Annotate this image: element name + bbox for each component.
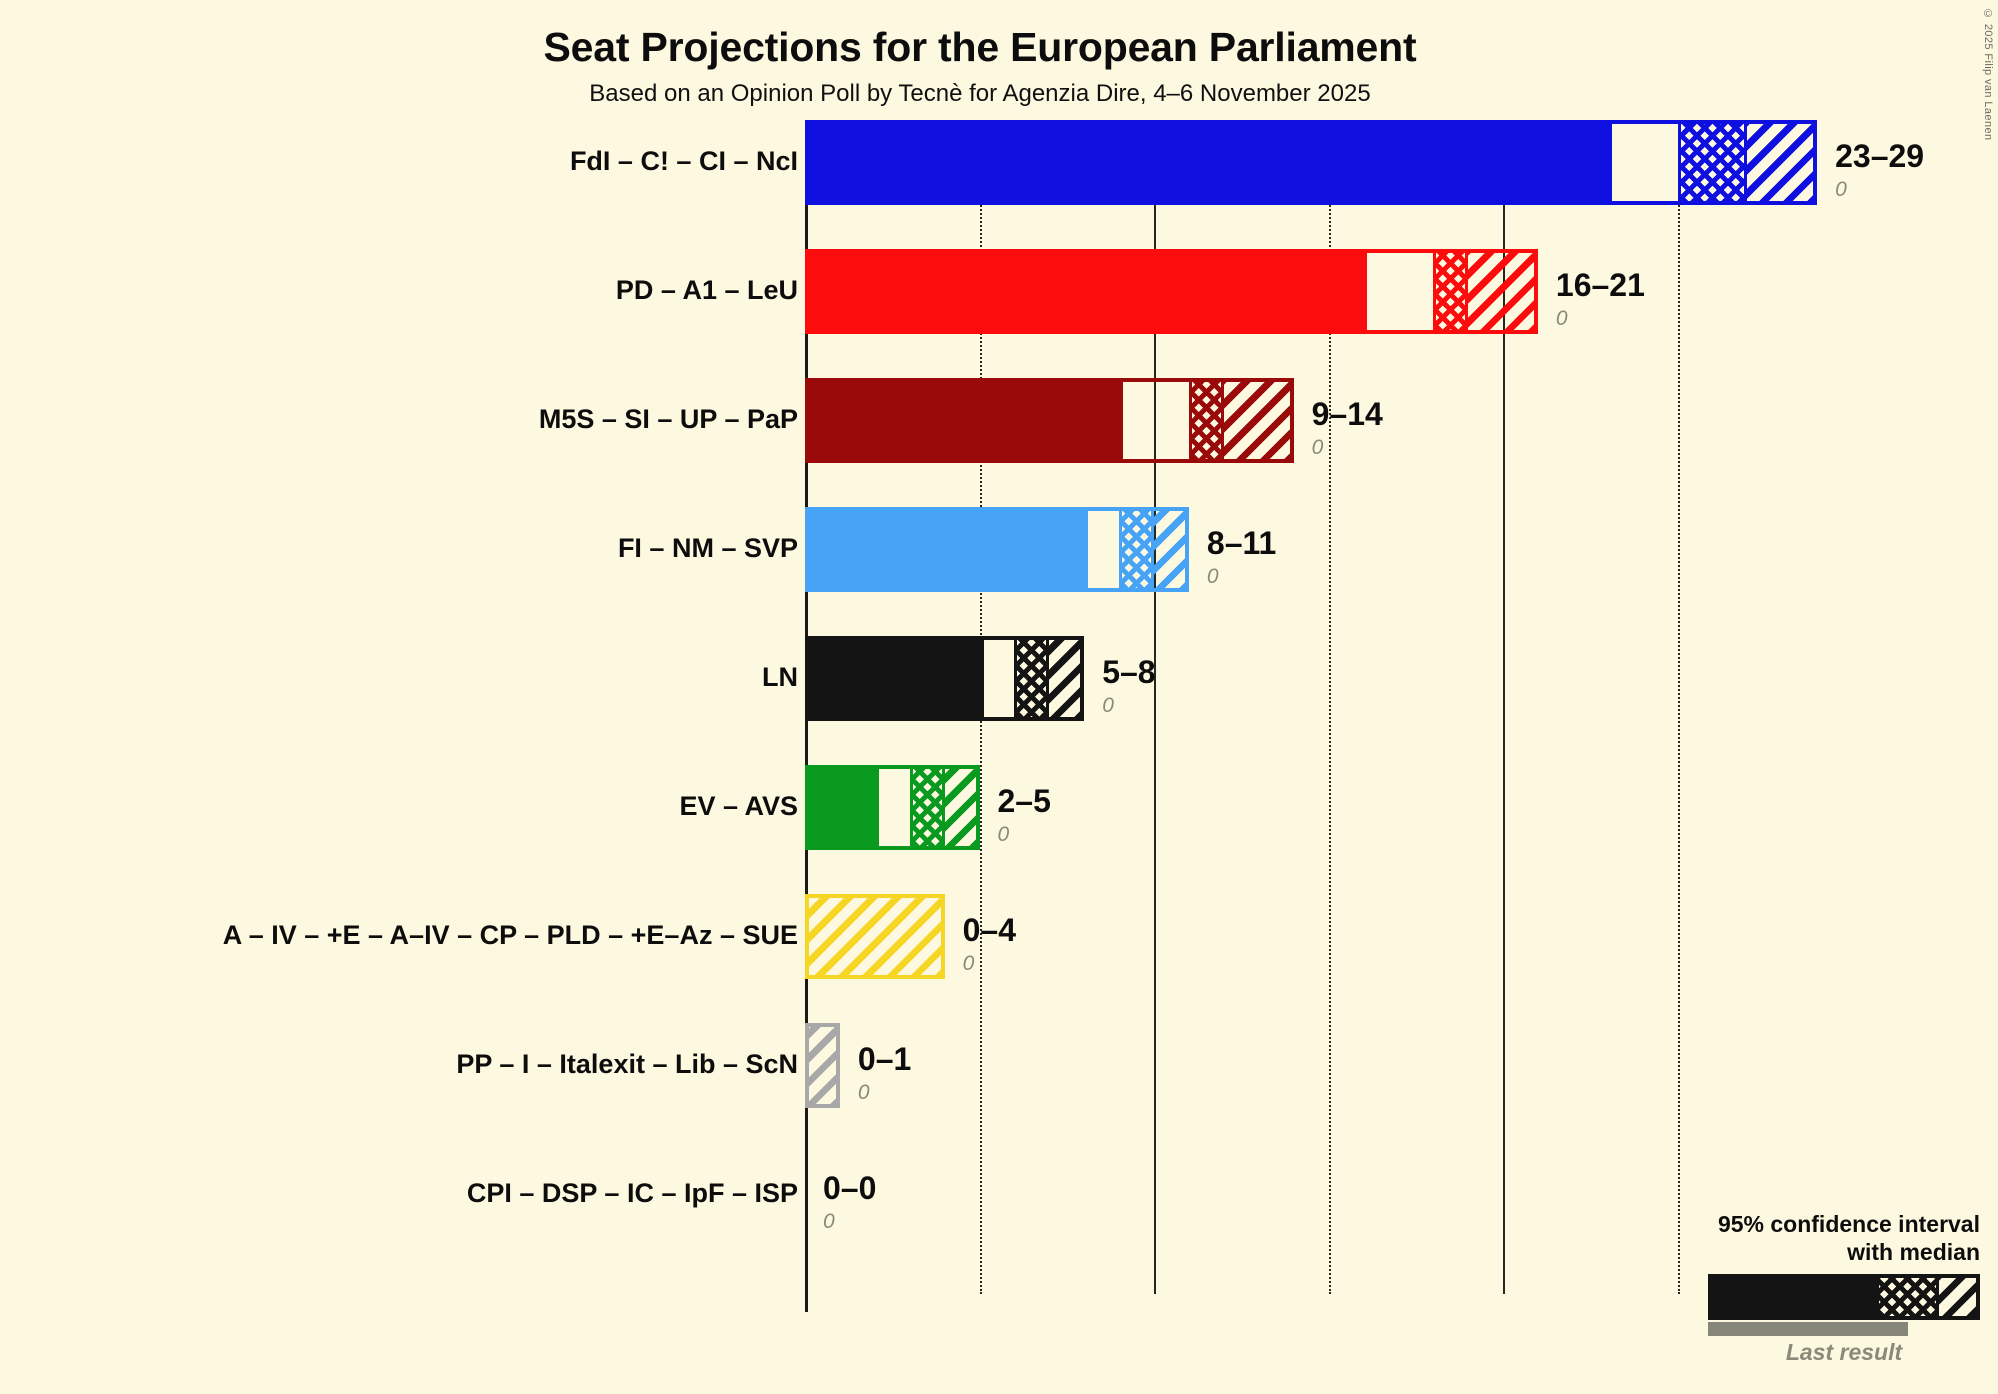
legend-line-2: with median — [1650, 1238, 1980, 1266]
confidence-interval-bar — [805, 765, 980, 850]
last-result-value: 0 — [1312, 436, 1324, 460]
last-result-value: 0 — [1556, 307, 1568, 331]
last-result-value: 0 — [823, 1210, 835, 1234]
bar-segment-median — [1014, 640, 1049, 717]
bar-row: FI – NM – SVP8–110 — [0, 507, 1998, 592]
bar-segment-solid — [805, 765, 879, 850]
range-value-label: 16–21 — [1556, 267, 1645, 304]
legend-last-result-swatch — [1708, 1322, 1908, 1336]
party-label: PD – A1 – LeU — [38, 275, 798, 306]
bar-row: A – IV – +E – A–IV – CP – PLD – +E–Az – … — [0, 894, 1998, 979]
last-result-value: 0 — [963, 952, 975, 976]
last-result-value: 0 — [998, 823, 1010, 847]
bar-segment-solid — [805, 636, 984, 721]
legend-segment-median — [1876, 1278, 1939, 1316]
bar-segment-median — [910, 769, 945, 846]
party-label: M5S – SI – UP – PaP — [38, 404, 798, 435]
bar-segment-solid — [805, 378, 1123, 463]
page-title: Seat Projections for the European Parlia… — [0, 24, 1960, 71]
legend-segment-solid — [1712, 1278, 1876, 1316]
legend-last-result-label: Last result — [1708, 1339, 1980, 1366]
last-result-value: 0 — [1835, 178, 1847, 202]
bar-segment-solid — [805, 507, 1088, 592]
bar-segment-upper — [805, 1027, 840, 1104]
bar-row: M5S – SI – UP – PaP9–140 — [0, 378, 1998, 463]
confidence-interval-bar — [805, 249, 1538, 334]
confidence-interval-bar — [805, 636, 1084, 721]
legend: 95% confidence interval with median Last… — [1650, 1210, 1980, 1366]
range-value-label: 0–1 — [858, 1041, 911, 1078]
bar-segment-solid — [805, 249, 1367, 334]
plot-area: FdI – C! – CI – NcI23–290PD – A1 – LeU16… — [0, 120, 1998, 1394]
chart-subtitle: Based on an Opinion Poll by Tecnè for Ag… — [0, 80, 1960, 108]
bar-segment-upper — [1049, 640, 1084, 717]
chart-root: Seat Projections for the European Parlia… — [0, 0, 1998, 1394]
confidence-interval-bar — [805, 378, 1294, 463]
bar-segment-median — [1189, 382, 1224, 459]
bar-segment-median — [1119, 511, 1154, 588]
range-value-label: 0–4 — [963, 912, 1016, 949]
bar-segment-upper — [945, 769, 980, 846]
party-label: FdI – C! – CI – NcI — [38, 146, 798, 177]
bar-segment-upper — [1154, 511, 1189, 588]
legend-segment-upper — [1939, 1278, 1976, 1316]
bar-row: FdI – C! – CI – NcI23–290 — [0, 120, 1998, 205]
party-label: CPI – DSP – IC – IpF – ISP — [38, 1178, 798, 1209]
confidence-interval-bar — [805, 120, 1817, 205]
bar-row: PD – A1 – LeU16–210 — [0, 249, 1998, 334]
bar-segment-solid — [805, 120, 1612, 205]
last-result-value: 0 — [1102, 694, 1114, 718]
party-label: FI – NM – SVP — [38, 533, 798, 564]
party-label: EV – AVS — [38, 791, 798, 822]
last-result-value: 0 — [858, 1081, 870, 1105]
confidence-interval-bar — [805, 894, 945, 979]
party-label: A – IV – +E – A–IV – CP – PLD – +E–Az – … — [38, 920, 798, 951]
bar-segment-median — [1678, 124, 1748, 201]
bar-row: EV – AVS2–50 — [0, 765, 1998, 850]
bar-segment-upper — [1224, 382, 1294, 459]
range-value-label: 5–8 — [1102, 654, 1155, 691]
bar-segment-upper — [1468, 253, 1538, 330]
range-value-label: 2–5 — [998, 783, 1051, 820]
bar-segment-median — [1433, 253, 1468, 330]
range-value-label: 9–14 — [1312, 396, 1383, 433]
range-value-label: 23–29 — [1835, 138, 1924, 175]
bar-row: PP – I – Italexit – Lib – ScN0–10 — [0, 1023, 1998, 1108]
party-label: LN — [38, 662, 798, 693]
range-value-label: 0–0 — [823, 1170, 876, 1207]
legend-interval-swatch — [1708, 1274, 1980, 1320]
bar-row: LN5–80 — [0, 636, 1998, 721]
range-value-label: 8–11 — [1207, 525, 1276, 562]
confidence-interval-bar — [805, 1023, 840, 1108]
confidence-interval-bar — [805, 507, 1189, 592]
last-result-value: 0 — [1207, 565, 1219, 589]
bar-segment-upper — [805, 898, 945, 975]
party-label: PP – I – Italexit – Lib – ScN — [38, 1049, 798, 1080]
bar-segment-upper — [1747, 124, 1817, 201]
legend-line-1: 95% confidence interval — [1650, 1210, 1980, 1238]
